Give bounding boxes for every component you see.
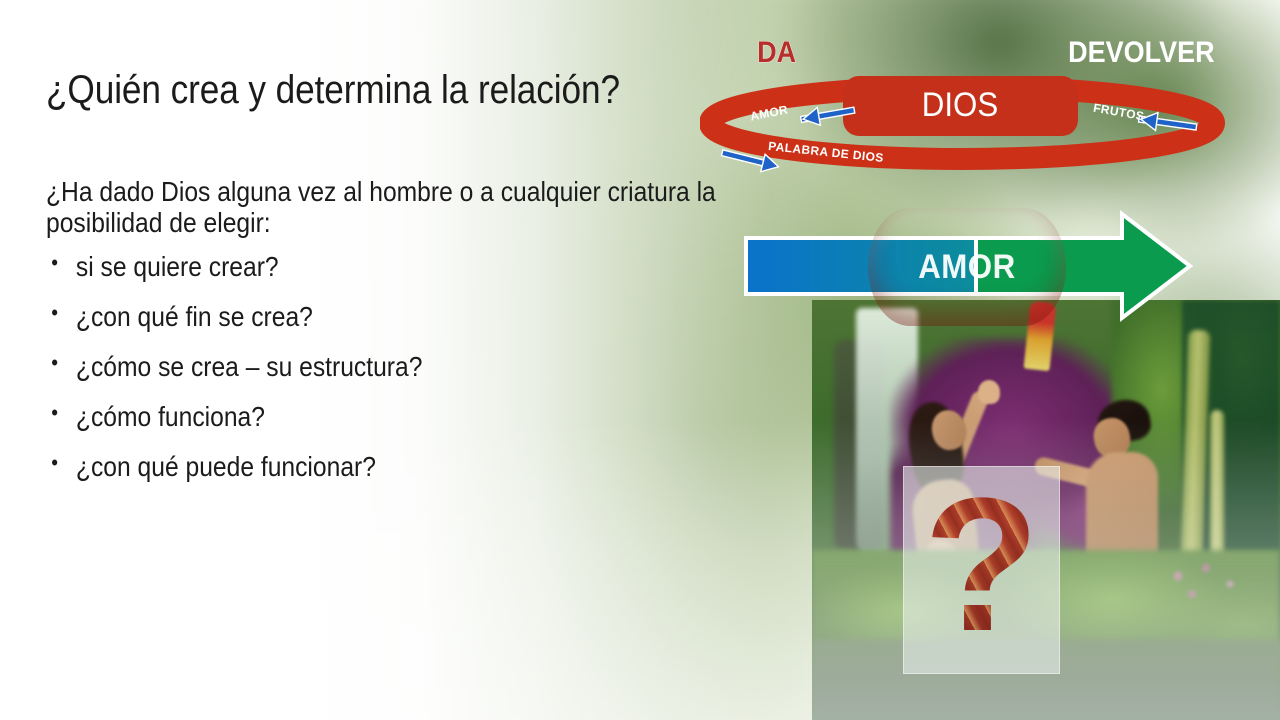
question-mark-panel: ? [903, 466, 1060, 674]
list-item: si se quiere crear? [46, 253, 768, 281]
eden-pink-flowers [1160, 558, 1256, 612]
list-item: ¿con qué puede funcionar? [46, 453, 768, 481]
list-item: ¿cómo funciona? [46, 403, 768, 431]
amor-arrow-diagram: AMOR [740, 198, 1200, 333]
amor-label: AMOR [918, 248, 1015, 287]
page-title: ¿Quién crea y determina la relación? [46, 68, 662, 113]
woman-hand [978, 380, 1000, 404]
question-mark-icon: ? [923, 470, 1039, 660]
cycle-label-devolver: DEVOLVER [1068, 36, 1215, 70]
dios-cycle-diagram: DA DEVOLVER DIOS AMOR FRUTOS PALABRA DE … [700, 18, 1280, 183]
cycle-label-da: DA [757, 36, 796, 70]
amor-cylinder: AMOR [868, 208, 1066, 326]
lead-paragraph: ¿Ha dado Dios alguna vez al hombre o a c… [46, 176, 768, 239]
cycle-label-dios: DIOS [859, 86, 1061, 125]
body-text-block: ¿Ha dado Dios alguna vez al hombre o a c… [46, 176, 766, 503]
presentation-slide: ? ¿Quién crea y determina la relación? ¿… [0, 0, 1280, 720]
list-item: ¿cómo se crea – su estructura? [46, 353, 768, 381]
list-item: ¿con qué fin se crea? [46, 303, 768, 331]
question-list: si se quiere crear? ¿con qué fin se crea… [46, 253, 768, 481]
